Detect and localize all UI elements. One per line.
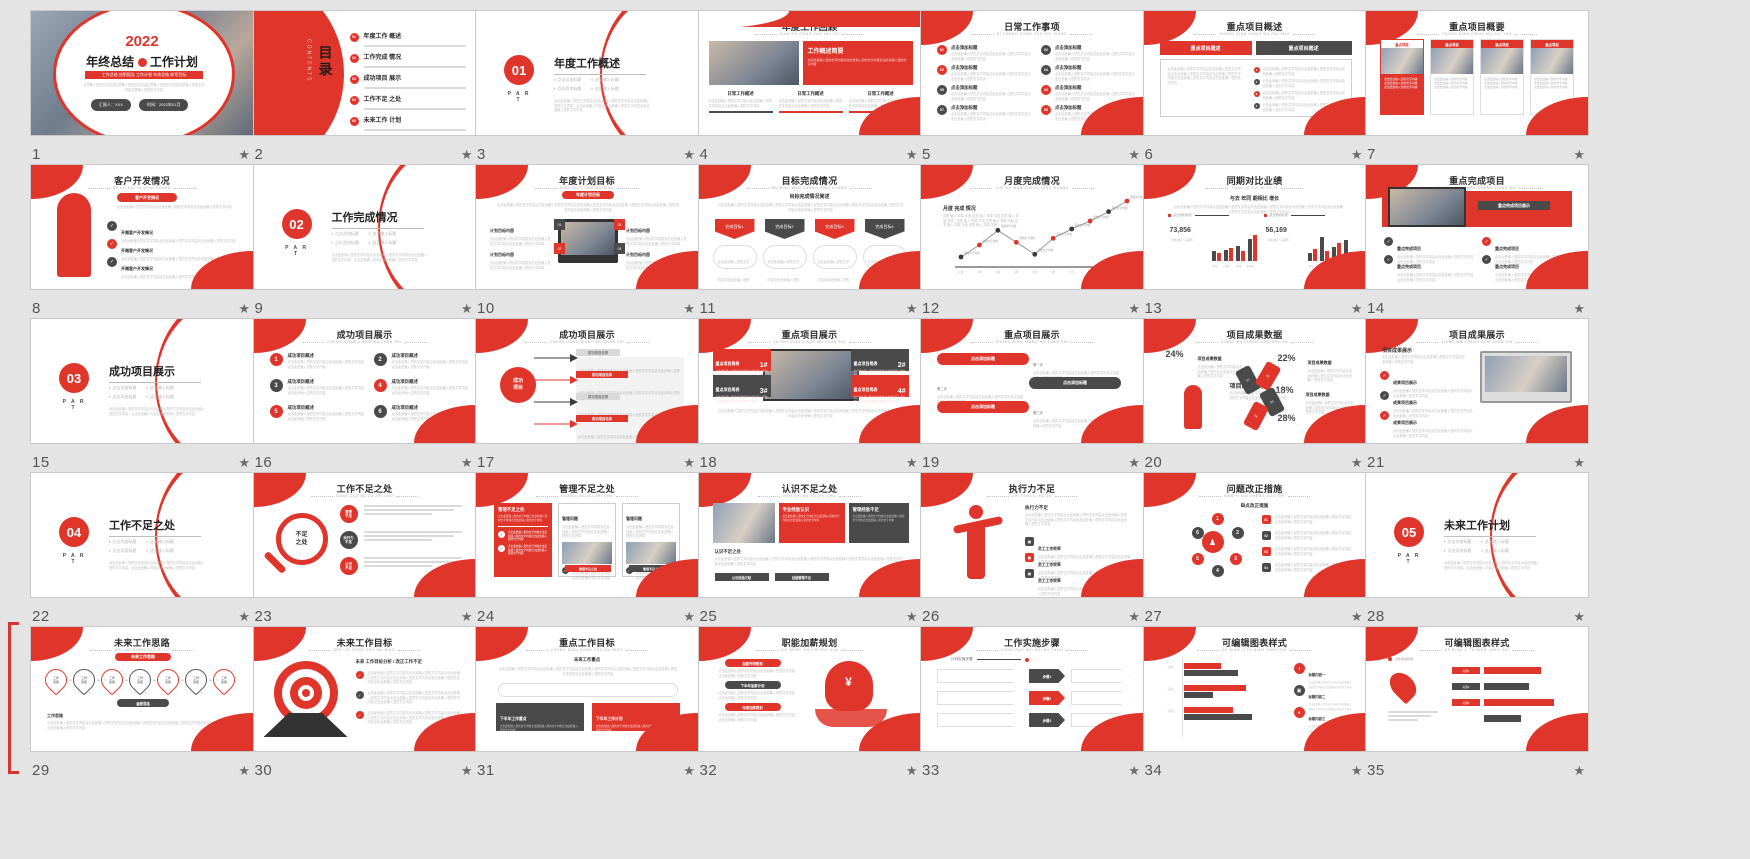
slide-thumbnail-28[interactable]: 05 P A RT 未来工作计划 点击添加标题这里输入标题 点击添加标题这里输入… [1365,472,1589,598]
data-point-label: 添加文字内容 [1019,236,1035,240]
animation-star-icon[interactable]: ★ [1573,456,1585,469]
slide-thumbnail-20[interactable]: 项目成果数据 XIANG MU CHENG GUO SHU JU 24% 项目成… [1143,318,1367,444]
slide-cell-4[interactable]: 年度工作回顾 NIAN DU GONG ZUO HUI GU 工作概述简要 点击… [698,10,922,167]
bottom-card: 日常工作概述 点击此处输入您的文字内容点击此处输入您的文字内容点击此处输入您的文… [779,91,843,113]
animation-star-icon[interactable]: ★ [906,764,918,777]
panel-heading: 管理问题 [562,516,578,521]
hub-node: 4 [1212,565,1224,577]
chart-panel: 点击添加标题 73,856 去年业绩（人民币） 一季度 二季度 三季度 四季度 [1168,223,1260,271]
bar [1184,685,1246,691]
slide-subtitle: ZHONG DIAN XIANG MU ZHAN SHI [699,340,921,344]
dark-panel: 管理经验不足 点击此处输入您的文字内容点击此处输入您的文字内容点击此处输入您的文… [849,503,909,543]
slide-thumbnail-26[interactable]: 执行力不足 ZHI XING LI BU ZU 执行力不足 点击此处输入您的文字… [920,472,1144,598]
step-arrow: 步骤1 [1029,669,1065,683]
slide-cell-6[interactable]: 重点项目概述 ZHONG DIAN XIANG MU GAI SHU 重点项目概… [1143,10,1367,167]
slide-photo [713,503,775,543]
plus-icon: + [209,678,212,684]
slide-thumbnail-1[interactable]: 2022 年终总结 工作计划 工作总结 述职报告 工作计划 年终总结 新军目标 … [30,10,254,136]
step-pill[interactable]: 点击添加标题 [1029,377,1121,389]
chart-section-heading: 与去 年同 期相比 增长 [1144,195,1366,202]
slide-cell-28[interactable]: 05 P A RT 未来工作计划 点击添加标题这里输入标题 点击添加标题这里输入… [1365,472,1589,629]
check-title: 成果项目展示 [1393,400,1417,405]
x-tick-label: 6月 [1051,270,1056,274]
data-point-label: 添加文字内容 [964,251,980,255]
x-tick-label: 3月 [996,270,1001,274]
list-item-number: 5 [270,405,283,418]
slide-cell-12[interactable]: 月度完成情况 YUE DU WAN CHENG QING KUANG 月度 完成… [920,164,1144,321]
pct-22: 22% [1278,353,1296,363]
slide-number: 28 [1367,608,1385,625]
list-item-body: 点击此处输入您的文字内容点击此处输入您的文字内容点击此处输入您的文字内容 [1055,72,1137,81]
slide-thumbnail-22[interactable]: 04 P A RT 工作不足之处 点击添加标题这里输入标题 点击添加标题这里输入… [30,472,254,598]
part-word: P A RT [500,91,538,103]
slide-subtitle: ZHI NENG JIA XIN GUI HUA [699,648,921,652]
footer-chip-1[interactable]: 认识经验欠缺 [715,573,769,581]
panel-footer-label: 管理不足之处 [565,565,611,572]
slide-number: 31 [477,762,495,779]
goal-item: ✓ 点击此处输入您的文字内容点击此处输入您的文字内容点击此处输入您的文字内容点击… [356,671,462,685]
animation-star-icon[interactable]: ★ [1573,302,1585,315]
slide-cell-35[interactable]: 可编辑图表样式 KE BIAN JI TU BIAO YANG SHI 点击添加… [1365,626,1589,783]
slide-number: 8 [32,300,41,317]
animation-star-icon[interactable]: ★ [906,456,918,469]
slide-thumbnail-5[interactable]: 日常工作事项 RI CHANG GONG ZUO SHI XIANG 01 点击… [920,10,1144,136]
part-bullets-row1: 点击添加标题这里输入标题 [332,231,397,237]
goal-item-badge: 03 [614,219,625,230]
legend-icon: ◕ [1294,707,1305,718]
measure-icon: 02 [1262,531,1271,540]
part-bullets-row2: 点击添加标题这里输入标题 [332,240,397,246]
slide-thumbnail-19[interactable]: 重点项目展示 ZHONG DIAN XIANG MU ZHAN SHI 点击添加… [920,318,1144,444]
slide-cell-11[interactable]: 目标完成情况 MU BIAO WAN CHENG QING KUANG 目标完成… [698,164,922,321]
list-item-number: 1 [270,353,283,366]
section-pill: 客户开发情况 [117,193,177,202]
check-title: 重点完成项目 [1397,264,1421,269]
animation-star-icon[interactable]: ★ [906,148,918,161]
animation-star-icon[interactable]: ★ [461,610,473,623]
tag-badge: 2# [898,362,906,369]
animation-star-icon[interactable]: ★ [1573,764,1585,777]
legend-label: 计划实施步骤 [951,657,973,662]
slide-thumbnail-29[interactable]: 未来工作思路 WEI LAI GONG ZUO SI LU 未来工作思路 工作思… [30,626,254,752]
step-arrow: 步骤2 [1029,691,1065,705]
animation-star-icon[interactable]: ★ [238,610,250,623]
slide-cell-8[interactable]: 客户开发情况 KE HU KAI FA QING KUANG 客户开发情况 点击… [30,164,254,321]
slide-thumbnail-9[interactable]: 02 P A RT 工作完成情况 点击添加标题这里输入标题 点击添加标题这里输入… [253,164,477,290]
banner-shape: 完成目标1 [715,219,755,239]
slide-thumbnail-3[interactable]: 01 P A RT 年度工作概述 点击添加标题这里输入标题 点击添加标题这里输入… [475,10,699,136]
slide-cell-29[interactable]: 未来工作思路 WEI LAI GONG ZUO SI LU 未来工作思路 工作思… [30,626,254,783]
goal-item: 计划目标内容 点击此处输入您的文字内容点击此处输入您的文字内容点击此处输入您的文… [490,243,552,270]
animation-star-icon[interactable]: ★ [1128,456,1140,469]
plus-icon: + [153,678,156,684]
cover-buttons[interactable]: 汇报人：XXX 时间：2022年01月 [91,99,188,111]
tag-title: 重点项目简表 [716,387,740,392]
corner-decor-bottom-right [1526,405,1588,443]
slide-cell-26[interactable]: 执行力不足 ZHI XING LI BU ZU 执行力不足 点击此处输入您的文字… [920,472,1144,629]
slide-sorter-view[interactable]: 2022 年终总结 工作计划 工作总结 述职报告 工作计划 年终总结 新军目标 … [0,0,1750,859]
card-title: 日常工作概述 [849,91,913,97]
animation-star-icon[interactable]: ★ [461,764,473,777]
photo-card: 重点项目 点击此处输入您的文字内容点击此处输入您的文字内容点击此处输入您的文字内… [1480,39,1524,115]
bar-label: 标题3 [1452,699,1480,706]
animation-star-icon[interactable]: ★ [461,456,473,469]
slide-cell-23[interactable]: 工作不足之处 GONG ZUO BU ZU ZHI CHU 不足之处 管理不足 … [253,472,477,629]
animation-star-icon[interactable]: ★ [238,764,250,777]
arrow-icon [534,417,578,431]
animation-star-icon[interactable]: ★ [906,610,918,623]
slide-number: 22 [32,608,50,625]
slide-cell-5[interactable]: 日常工作事项 RI CHANG GONG ZUO SHI XIANG 01 点击… [920,10,1144,167]
slide-subtitle: NIAN DU JI HUA MU BIAO [476,186,698,190]
animation-star-icon[interactable]: ★ [683,610,695,623]
thumbnail-grid[interactable]: 2022 年终总结 工作计划 工作总结 述职报告 工作计划 年终总结 新军目标 … [0,0,1750,859]
slide-cell-22[interactable]: 04 P A RT 工作不足之处 点击添加标题这里输入标题 点击添加标题这里输入… [30,472,254,629]
person-silhouette [264,713,348,737]
tag-title: 重点项目简表 [854,361,878,366]
drop-label: 工作思路 [101,669,123,691]
slide-thumbnail-32[interactable]: 职能加薪规划 ZHI NENG JIA XIN GUI HUA 加薪升职规划 点… [698,626,922,752]
part-word: P A RT [1390,553,1428,565]
slide-subtitle: GONG ZUO SHI SHI BU ZHOU [921,648,1143,652]
slide-cell-31[interactable]: 重点工作目标 ZHONG DIAN GONG ZUO MU BIAO 未来工作重… [475,626,699,783]
animation-star-icon[interactable]: ★ [461,148,473,161]
slide-thumbnail-15[interactable]: 03 P A RT 成功项目展示 点击添加标题这里输入标题 点击添加标题这里输入… [30,318,254,444]
side-text [1388,711,1438,723]
slide-thumbnail-31[interactable]: 重点工作目标 ZHONG DIAN GONG ZUO MU BIAO 未来工作重… [475,626,699,752]
section-body: 点击此处输入您的文字内容点击此处输入您的文字内容点击此处输入您的文字内容点击此处… [717,203,905,212]
x-tick-label: 四季度 [1247,264,1254,268]
animation-star-icon[interactable]: ★ [683,456,695,469]
list-item[interactable]: 2 成功项目概述 点击此处输入您的文字内容点击此处输入您的文字内容点击此处输入您… [374,353,470,369]
slide-cell-16[interactable]: 成功项目展示 CHENG GONG XIANG MU ZHAN SHI 1 成功… [253,318,477,475]
toc-item[interactable]: 05 未来工作 计划 [350,109,466,133]
slide-thumbnail-17[interactable]: 成功项目展示 CHENG GONG XIANG MU ZHAN SHI 成功项目… [475,318,699,444]
slide-number: 21 [1367,454,1385,471]
check-title: 成果项目展示 [1393,420,1417,425]
list-item[interactable]: 01 点击添加标题 点击此处输入您的文字内容点击此处输入您的文字内容点击此处输入… [937,45,1033,61]
list-item-text: 点击添加标题 点击此处输入您的文字内容点击此处输入您的文字内容点击此处输入您的文… [1055,65,1137,81]
hub-center: ♟ [1202,531,1224,553]
part-word: P A RT [55,399,93,411]
slide-cell-7[interactable]: 重点项目概要 ZHONG DIAN XIANG MU GAI YAO 重点项目 … [1365,10,1589,167]
data-point-label: 添加文字内容 [1075,223,1091,227]
animation-star-icon[interactable]: ★ [1351,456,1363,469]
x-tick-label: 5月 [1032,270,1037,274]
reason-text [364,531,462,543]
slide-subtitle: ZHI XING LI BU ZU [921,494,1143,498]
slide-thumbnail-11[interactable]: 目标完成情况 MU BIAO WAN CHENG QING KUANG 目标完成… [698,164,922,290]
slide-cell-27[interactable]: 问题改正措施 WEN TI GAI ZHENG CUO SHI 缺点改正措施 ♟… [1143,472,1367,629]
slide-thumbnail-23[interactable]: 工作不足之处 GONG ZUO BU ZU ZHI CHU 不足之处 管理不足 … [253,472,477,598]
slide-number: 24 [477,608,495,625]
slide-cell-14[interactable]: 重点完成项目 ZHONG DIAN WAN CHENG XIANG MU 重点完… [1365,164,1589,321]
animation-star-icon[interactable]: ★ [238,302,250,315]
slide-number: 10 [477,300,495,317]
animation-star-icon[interactable]: ★ [1128,148,1140,161]
tab-secondary[interactable]: 重点项目概述 [1256,41,1352,55]
slide-cell-15[interactable]: 03 P A RT 成功项目展示 点击添加标题这里输入标题 点击添加标题这里输入… [30,318,254,475]
check-title: 开端客户开发情况 [121,230,153,235]
bar [1313,249,1317,261]
red-panel: 管理不足之处 点击此处输入您的文字内容点击此处输入您的文字内容点击此处输入您的文… [494,503,552,577]
slide-thumbnail-27[interactable]: 问题改正措施 WEN TI GAI ZHENG CUO SHI 缺点改正措施 ♟… [1143,472,1367,598]
list-item-text: 点击添加标题 点击此处输入您的文字内容点击此处输入您的文字内容点击此处输入您的文… [951,45,1033,61]
slide-thumbnail-18[interactable]: 重点项目展示 ZHONG DIAN XIANG MU ZHAN SHI 重点项目… [698,318,922,444]
goal-item-badge: 04 [614,243,625,254]
animation-star-icon[interactable]: ★ [683,764,695,777]
part-heading: 年度工作概述 [554,55,646,75]
hub-node: 5 [1192,553,1204,565]
card-label: 重点项目 [1381,40,1423,48]
animation-star-icon[interactable]: ★ [1128,764,1140,777]
hub-node: 6 [1192,527,1204,539]
slide-cell-30[interactable]: 未来工作目标 WEI LAI GONG ZUO MU BIAO 未来 工作目标分… [253,626,477,783]
slide-cell-9[interactable]: 02 P A RT 工作完成情况 点击添加标题这里输入标题 点击添加标题这里输入… [253,164,477,321]
part-bullets-row2: 点击添加标题这里输入标题 [554,86,619,92]
animation-star-icon[interactable]: ★ [1573,148,1585,161]
list-item[interactable]: 4 成功项目概述 点击此处输入您的文字内容点击此处输入您的文字内容点击此处输入您… [374,379,470,395]
check-icon: ✓ [1380,371,1389,380]
animation-star-icon[interactable]: ★ [1351,148,1363,161]
bottom-card: 日常工作概述 点击此处输入您的文字内容点击此处输入您的文字内容点击此处输入您的文… [709,91,773,113]
cover-band: 工作总结 述职报告 工作计划 年终总结 新军目标 [85,71,203,79]
list-item-body: 点击此处输入您的文字内容点击此处输入您的文字内容点击此处输入您的文字内容 [951,52,1033,61]
bar [1484,683,1529,690]
animation-star-icon[interactable]: ★ [683,302,695,315]
goal-item-badge: 02 [554,243,565,254]
check-icon: ✓ [107,239,117,249]
panel-label: 重点完成项目展示 [1478,201,1550,210]
bar [1484,667,1541,674]
animation-star-icon[interactable]: ★ [1351,764,1363,777]
slide-number: 6 [1145,146,1154,163]
goal-item-title: 计划目标内容 [626,252,650,257]
animation-star-icon[interactable]: ★ [1351,302,1363,315]
animation-star-icon[interactable]: ★ [238,456,250,469]
bar [1184,692,1214,698]
plus-icon: + [69,678,72,684]
slide-cell-19[interactable]: 重点项目展示 ZHONG DIAN XIANG MU ZHAN SHI 点击添加… [920,318,1144,475]
animation-star-icon[interactable]: ★ [238,148,250,161]
slide-thumbnail-16[interactable]: 成功项目展示 CHENG GONG XIANG MU ZHAN SHI 1 成功… [253,318,477,444]
list-item[interactable]: 3 成功项目概述 点击此处输入您的文字内容点击此处输入您的文字内容点击此处输入您… [270,379,366,395]
part-heading: 工作不足之处 [109,517,201,537]
measure-item: 02 点击此处输入您的文字内容点击此处输入您的文字内容点击此处输入您的文字内容 [1262,531,1352,540]
x-tick-label: 4月 [1014,270,1019,274]
part-body: 点击此处输入您的文字内容点击此处输入您的文字内容点击此处输入您的文字内容，点击此… [332,253,428,262]
check-icon: ✓ [1482,237,1491,246]
check-icon: ✓ [356,711,364,719]
slide-subtitle: ZHONG DIAN GONG ZUO MU BIAO [476,648,698,652]
slide-cell-18[interactable]: 重点项目展示 ZHONG DIAN XIANG MU ZHAN SHI 重点项目… [698,318,922,475]
slide-thumbnail-4[interactable]: 年度工作回顾 NIAN DU GONG ZUO HUI GU 工作概述简要 点击… [698,10,922,136]
list-item[interactable]: 03 点击添加标题 点击此处输入您的文字内容点击此处输入您的文字内容点击此处输入… [937,65,1033,81]
slide-cell-34[interactable]: 可编辑图表样式 KE BIAN JI TU BIAO YANG SHI 标题一 … [1143,626,1367,783]
slide-subtitle: WEI LAI GONG ZUO SI LU [31,648,253,652]
slide-subtitle: XIANG MU CHENG GUO ZHAN SHI [1366,340,1588,344]
slide-cell-2[interactable]: CONTENTS 目录 01 年度工作 概述 02 工作完成 情况 03 成功项… [253,10,477,167]
cover-presenter-button[interactable]: 汇报人：XXX [91,99,131,111]
slide-thumbnail-7[interactable]: 重点项目概要 ZHONG DIAN XIANG MU GAI YAO 重点项目 … [1365,10,1589,136]
list-item[interactable]: 07 点击添加标题 点击此处输入您的文字内容点击此处输入您的文字内容点击此处输入… [937,105,1033,121]
slide-cell-32[interactable]: 职能加薪规划 ZHI NENG JIA XIN GUI HUA 加薪升职规划 点… [698,626,922,783]
check-icon: ✓ [356,671,364,679]
slide-subtitle: TONG QI DUI BI YE JI [1144,186,1366,190]
part-body: 点击此处输入您的文字内容点击此处输入您的文字内容点击此处输入您的文字内容，点击此… [1444,561,1540,570]
slide-subtitle: KE HU KAI FA QING KUANG [31,186,253,190]
section-heading: 项目成果展示 [1382,347,1412,354]
step-pill[interactable]: 点击添加标题 [937,353,1029,365]
plan-pill[interactable]: 年底加薪规划 [725,703,781,711]
bar [1320,237,1324,261]
animation-star-icon[interactable]: ★ [1573,610,1585,623]
step-label: 第二步 [937,387,947,391]
result-pill: 重要思路 [117,699,169,707]
list-item-title: 成功项目概述 [392,353,470,359]
slide-cell-13[interactable]: 同期对比业绩 TONG QI DUI BI YE JI 与去 年同 期相比 增长… [1143,164,1367,321]
tag-badge: 1# [760,362,768,369]
slide-thumbnail-12[interactable]: 月度完成情况 YUE DU WAN CHENG QING KUANG 月度 完成… [920,164,1144,290]
part-bullets-row2: 点击添加标题这里输入标题 [1444,548,1509,554]
animation-star-icon[interactable]: ★ [461,302,473,315]
person-silhouette [1184,385,1202,429]
animation-star-icon[interactable]: ★ [1128,302,1140,315]
measure-icon: 03 [1262,547,1271,556]
data-point [959,255,964,260]
plan-pill[interactable]: 下半年加薪计划 [725,681,781,689]
slide-cell-20[interactable]: 项目成果数据 XIANG MU CHENG GUO SHU JU 24% 项目成… [1143,318,1367,475]
slide-subtitle: ZHONG DIAN XIANG MU GAI SHU [1144,32,1366,36]
footer-chip-2[interactable]: 经验管理不足 [775,573,829,581]
text-line [364,505,462,507]
project-tag: 重点项目简表 点击此处输入您的文字内容点击此处输入您的文字内容点击此处输入您的文… [851,349,909,371]
slide-cell-25[interactable]: 认识不足之处 REN SHI BU ZU ZHI CHU 专业经验认识 点击此处… [698,472,922,629]
legend-icon: ◑ [1294,663,1305,674]
photo-card: 重点项目 点击此处输入您的文字内容点击此处输入您的文字内容点击此处输入您的文字内… [1380,39,1424,115]
check-icon: ✓ [1482,255,1491,264]
slide-cell-21[interactable]: 项目成果展示 XIANG MU CHENG GUO ZHAN SHI 项目成果展… [1365,318,1589,475]
plus-icon: + [97,678,100,684]
list-item[interactable]: 5 成功项目概述 点击此处输入您的文字内容点击此处输入您的文字内容点击此处输入您… [270,405,366,421]
section-body: 点击此处输入您的文字内容点击此处输入您的文字内容点击此处输入您的文字内容点击此处… [715,557,905,566]
part-number: 01 [504,55,534,85]
data-point [1106,209,1111,214]
list-item[interactable]: 1 成功项目概述 点击此处输入您的文字内容点击此处输入您的文字内容点击此处输入您… [270,353,366,369]
list-item-number: 3 [270,379,283,392]
step-pill[interactable]: 点击添加标题 [937,401,1029,413]
check-icon: ✓ [107,221,117,231]
slide-cell-10[interactable]: 年度计划目标 NIAN DU JI HUA MU BIAO 年度计划目标 点击此… [475,164,699,321]
tab-body: 点击此处输入您的文字内容点击此处输入您的文字内容点击此处输入您的文字内容点击此处… [1168,67,1244,85]
slide-cell-1[interactable]: 2022 年终总结 工作计划 工作总结 述职报告 工作计划 年终总结 新军目标 … [30,10,254,167]
arrow-icon [534,373,578,387]
slide-thumbnail-2[interactable]: CONTENTS 目录 01 年度工作 概述 02 工作完成 情况 03 成功项… [253,10,477,136]
slide-cell-3[interactable]: 01 P A RT 年度工作概述 点击添加标题这里输入标题 点击添加标题这里输入… [475,10,699,167]
measure-icon: 04 [1262,563,1271,572]
slide-thumbnail-24[interactable]: 管理不足之处 GUAN LI BU ZU ZHI CHU 管理不足之处 点击此处… [475,472,699,598]
step-box: 点击此处输入您的文字内容点击此处输入您的文字内容点击此处输入您的文字内容 [937,713,1025,727]
slide-thumbnail-14[interactable]: 重点完成项目 ZHONG DIAN WAN CHENG XIANG MU 重点完… [1365,164,1589,290]
part-bullets-row1: 点击添加标题这里输入标题 [554,77,619,83]
part-body: 点击此处输入您的文字内容点击此处输入您的文字内容点击此处输入您的文字内容，点击此… [109,407,205,416]
slide-cell-24[interactable]: 管理不足之处 GUAN LI BU ZU ZHI CHU 管理不足之处 点击此处… [475,472,699,629]
slide-thumbnail-34[interactable]: 可编辑图表样式 KE BIAN JI TU BIAO YANG SHI 标题一 … [1143,626,1367,752]
slide-subtitle: KE BIAN JI TU BIAO YANG SHI [1366,648,1588,652]
list-item-number: 08 [1041,105,1051,115]
animation-star-icon[interactable]: ★ [683,148,695,161]
person-silhouette [57,193,91,277]
slide-thumbnail-8[interactable]: 客户开发情况 KE HU KAI FA QING KUANG 客户开发情况 点击… [30,164,254,290]
text-line [364,513,433,515]
animation-star-icon[interactable]: ★ [1351,610,1363,623]
drop-label: 工作思路 [129,669,151,691]
block-heading: 下半年工作计划 [596,717,623,721]
goal-item-title: 计划目标内容 [626,228,650,233]
slide-thumbnail-25[interactable]: 认识不足之处 REN SHI BU ZU ZHI CHU 专业经验认识 点击此处… [698,472,922,598]
card-label: 重点项目 [1531,40,1573,48]
slide-thumbnail-21[interactable]: 项目成果展示 XIANG MU CHENG GUO ZHAN SHI 项目成果展… [1365,318,1589,444]
slide-number: 18 [700,454,718,471]
bar [1217,253,1221,261]
plan-pill[interactable]: 加薪升职规划 [725,659,781,667]
slide-cell-17[interactable]: 成功项目展示 CHENG GONG XIANG MU ZHAN SHI 成功项目… [475,318,699,475]
slide-cell-33[interactable]: 工作实施步骤 GONG ZUO SHI SHI BU ZHOU 计划实施步骤 点… [920,626,1144,783]
toc-item-number: 04 [350,96,359,105]
slide-subtitle: MU BIAO WAN CHENG QING KUANG [699,186,921,190]
cover-date-button[interactable]: 时间：2022年01月 [139,99,188,111]
tab-primary[interactable]: 重点项目概述 [1160,41,1252,55]
list-item[interactable]: 04 点击添加标题 点击此处输入您的文字内容点击此处输入您的文字内容点击此处输入… [1041,65,1137,81]
text-line [364,557,462,559]
legend-dot [1388,657,1392,661]
slide-subtitle: RI CHANG GONG ZUO SHI XIANG [921,32,1143,36]
slide-number: 3 [477,146,486,163]
slide-thumbnail-13[interactable]: 同期对比业绩 TONG QI DUI BI YE JI 与去 年同 期相比 增长… [1143,164,1367,290]
part-word: P A RT [55,553,93,565]
slide-number: 2 [255,146,264,163]
panel-heading: 管理不足之处 [498,507,548,513]
drop-label: 工作思路 [185,669,207,691]
kpi-value: 56,169 [1266,227,1287,234]
slide-thumbnail-30[interactable]: 未来工作目标 WEI LAI GONG ZUO MU BIAO 未来 工作目标分… [253,626,477,752]
slide-thumbnail-35[interactable]: 可编辑图表样式 KE BIAN JI TU BIAO YANG SHI 点击添加… [1365,626,1589,752]
slide-number: 4 [700,146,709,163]
legend: 点击添加标题 [1388,657,1413,661]
drop-label: 工作思路 [213,669,235,691]
reason-badge: 执行力不足 [340,531,358,549]
list-item-number: 05 [937,85,947,95]
animation-star-icon[interactable]: ★ [1128,610,1140,623]
list-item[interactable]: 05 点击添加标题 点击此处输入您的文字内容点击此处输入您的文字内容点击此处输入… [937,85,1033,101]
animation-star-icon[interactable]: ★ [906,302,918,315]
legend-label: 点击添加标题 [1174,213,1192,217]
part-body: 点击此处输入您的文字内容点击此处输入您的文字内容点击此处输入您的文字内容，点击此… [554,99,650,113]
panel-heading: 工作概述简要 [808,46,908,55]
corner-decor-bottom-right [1526,713,1588,751]
toc-item-number: 05 [350,117,359,126]
slide-number: 32 [700,762,718,779]
slide-thumbnail-10[interactable]: 年度计划目标 NIAN DU JI HUA MU BIAO 年度计划目标 点击此… [475,164,699,290]
slide-thumbnail-33[interactable]: 工作实施步骤 GONG ZUO SHI SHI BU ZHOU 计划实施步骤 点… [920,626,1144,752]
photo-panel: 管理问题 点击此处输入您的文字内容点击此处输入您的文字内容点击此处输入您的文字内… [558,503,616,577]
bar-label: 标题1 [1452,667,1480,674]
panel-body: 点击此处输入您的文字内容点击此处输入您的文字内容点击此处输入您的文字内容 [808,58,908,67]
list-item[interactable]: 02 点击添加标题 点击此处输入您的文字内容点击此处输入您的文字内容点击此处输入… [1041,45,1137,61]
slide-thumbnail-6[interactable]: 重点项目概述 ZHONG DIAN XIANG MU GAI SHU 重点项目概… [1143,10,1367,136]
dark-block: 下半年工作重点 点击此处输入您的文字内容点击此处输入您的文字内容点击此处输入您的… [496,703,584,731]
slide-number: 27 [1145,608,1163,625]
